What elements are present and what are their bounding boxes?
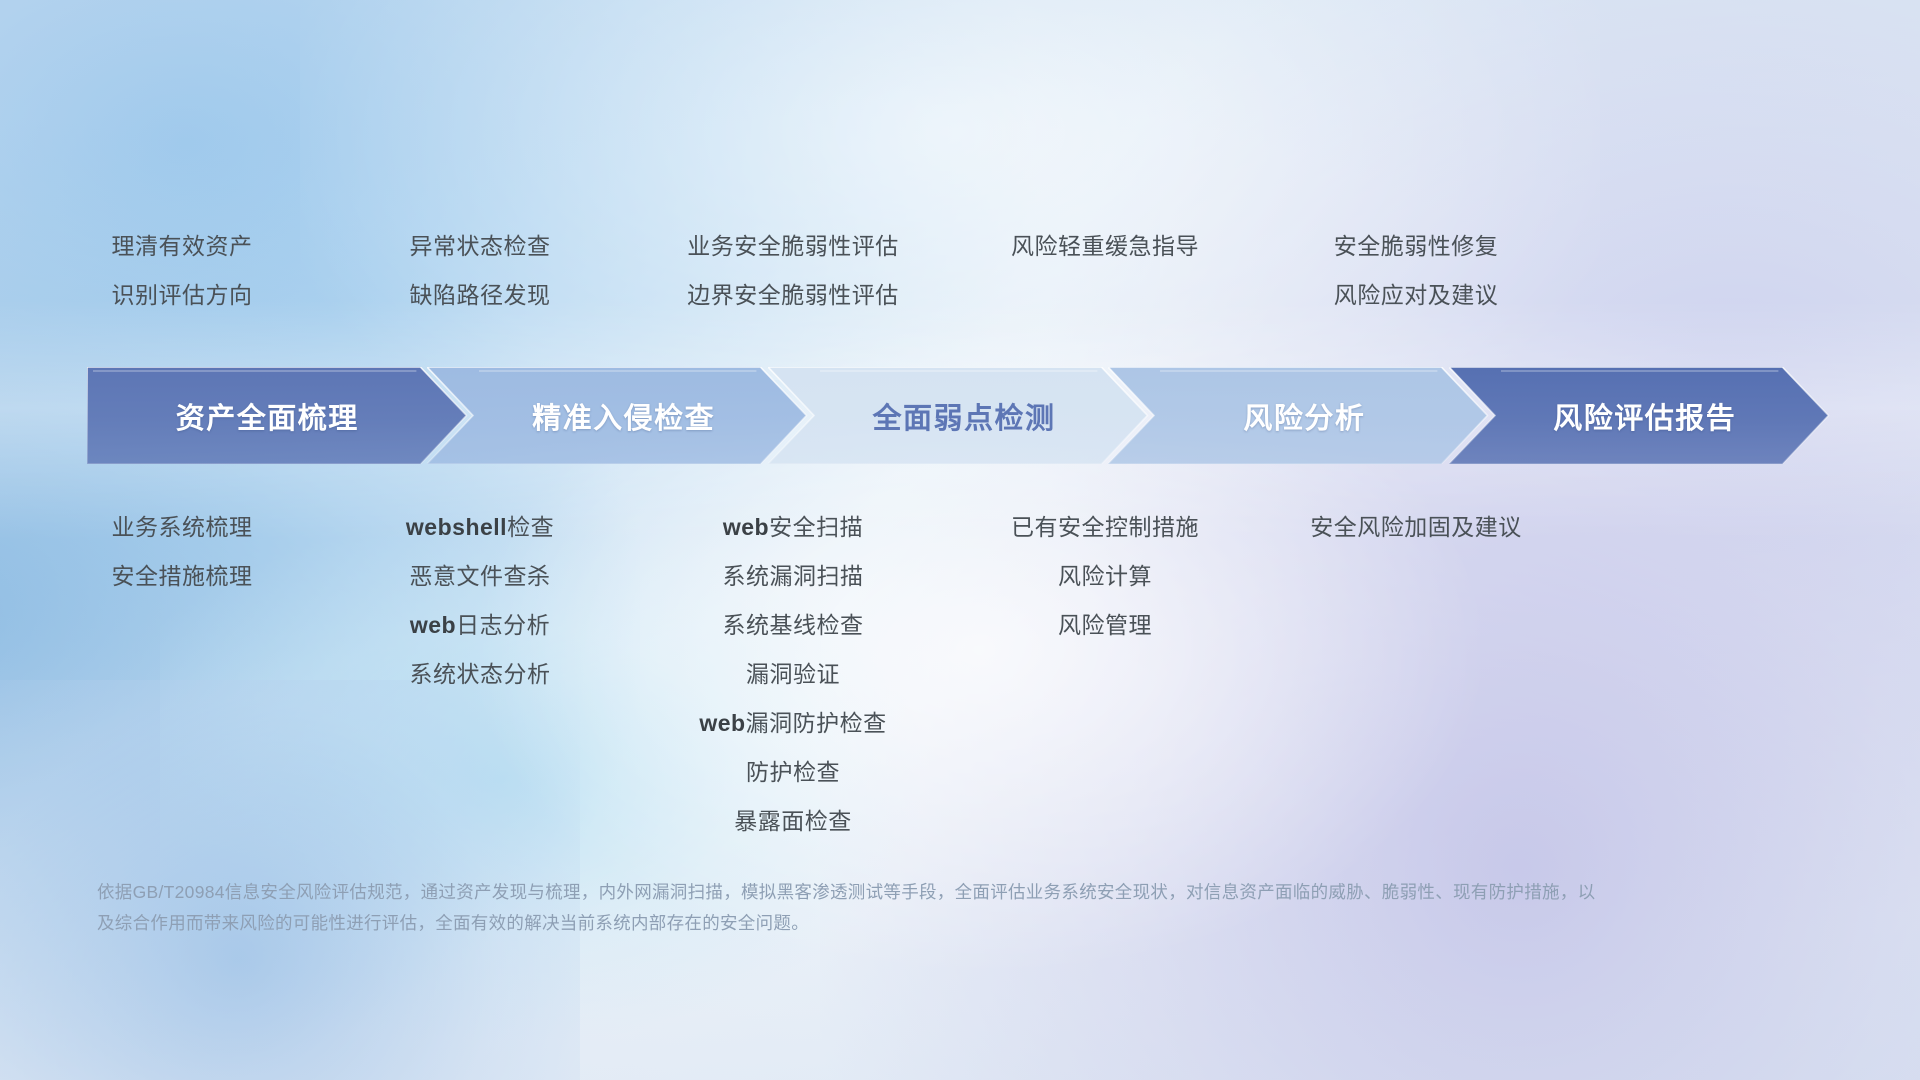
stage-1-top-item: 识别评估方向 (32, 271, 332, 320)
stage-2-bottom-item: 恶意文件查杀 (330, 552, 630, 601)
stage-3-top-item: 边界安全脆弱性评估 (618, 271, 968, 320)
stage-2-bottom-item: webshell检查 (330, 503, 630, 552)
stage-2-bottom-item: 系统状态分析 (330, 650, 630, 699)
stage-2-top-item: 缺陷路径发现 (330, 271, 630, 320)
stage-label-4: 风险分析 (1243, 395, 1365, 437)
stage-5-top-item: 安全脆弱性修复 (1256, 222, 1576, 271)
latin-token: web (410, 612, 456, 638)
stage-4-bottom-item: 已有安全控制措施 (955, 503, 1255, 552)
stage-3-bottom-item: web安全扫描 (618, 503, 968, 552)
stage-1-bottom-item: 安全措施梳理 (32, 552, 332, 601)
process-diagram: 理清有效资产识别评估方向 异常状态检查缺陷路径发现 业务安全脆弱性评估边界安全脆… (0, 0, 1920, 1080)
stage-5-bottom-items: 安全风险加固及建议 (1256, 503, 1576, 552)
stage-2-top-item: 异常状态检查 (330, 222, 630, 271)
stage-2-bottom-items: webshell检查恶意文件查杀web日志分析系统状态分析 (330, 503, 630, 699)
stage-chevron-4[interactable]: 风险分析 (1108, 367, 1494, 464)
stage-4-bottom-item: 风险计算 (955, 552, 1255, 601)
stage-4-bottom-item: 风险管理 (955, 601, 1255, 650)
stage-2-bottom-item: web日志分析 (330, 601, 630, 650)
stage-1-bottom-item: 业务系统梳理 (32, 503, 332, 552)
stage-1-top-items: 理清有效资产识别评估方向 (32, 222, 332, 320)
stage-3-bottom-item: 系统漏洞扫描 (618, 552, 968, 601)
stage-label-1: 资产全面梳理 (176, 395, 359, 437)
latin-token: web (723, 514, 769, 540)
stage-5-top-item: 风险应对及建议 (1256, 271, 1576, 320)
stage-3-top-item: 业务安全脆弱性评估 (618, 222, 968, 271)
footnote-text: 依据GB/T20984信息安全风险评估规范，通过资产发现与梳理，内外网漏洞扫描，… (97, 877, 1607, 939)
stage-5-bottom-item: 安全风险加固及建议 (1256, 503, 1576, 552)
stage-arrow-band: 资产全面梳理精准入侵检查全面弱点检测风险分析风险评估报告 (87, 367, 1835, 464)
stage-chevron-1[interactable]: 资产全面梳理 (87, 367, 473, 464)
stage-3-bottom-items: web安全扫描系统漏洞扫描系统基线检查漏洞验证web漏洞防护检查防护检查暴露面检… (618, 503, 968, 846)
stage-label-3: 全面弱点检测 (872, 395, 1055, 437)
stage-3-bottom-item: 暴露面检查 (618, 797, 968, 846)
stage-3-bottom-item: 系统基线检查 (618, 601, 968, 650)
stage-label-5: 风险评估报告 (1553, 395, 1736, 437)
stage-label-2: 精准入侵检查 (532, 395, 715, 437)
stage-chevron-2[interactable]: 精准入侵检查 (427, 367, 813, 464)
stage-2-top-items: 异常状态检查缺陷路径发现 (330, 222, 630, 320)
stage-4-bottom-items: 已有安全控制措施风险计算风险管理 (955, 503, 1255, 650)
stage-3-bottom-item: web漏洞防护检查 (618, 699, 968, 748)
stage-3-bottom-item: 防护检查 (618, 748, 968, 797)
stage-chevron-5[interactable]: 风险评估报告 (1449, 367, 1835, 464)
stage-3-bottom-item: 漏洞验证 (618, 650, 968, 699)
stage-1-bottom-items: 业务系统梳理安全措施梳理 (32, 503, 332, 601)
latin-token: web (699, 710, 745, 736)
stage-4-top-item: 风险轻重缓急指导 (955, 222, 1255, 271)
stage-chevron-3[interactable]: 全面弱点检测 (768, 367, 1154, 464)
stage-5-top-items: 安全脆弱性修复风险应对及建议 (1256, 222, 1576, 320)
stage-1-top-item: 理清有效资产 (32, 222, 332, 271)
stage-3-top-items: 业务安全脆弱性评估边界安全脆弱性评估 (618, 222, 968, 320)
latin-token: webshell (406, 514, 507, 540)
stage-4-top-items: 风险轻重缓急指导 (955, 222, 1255, 271)
